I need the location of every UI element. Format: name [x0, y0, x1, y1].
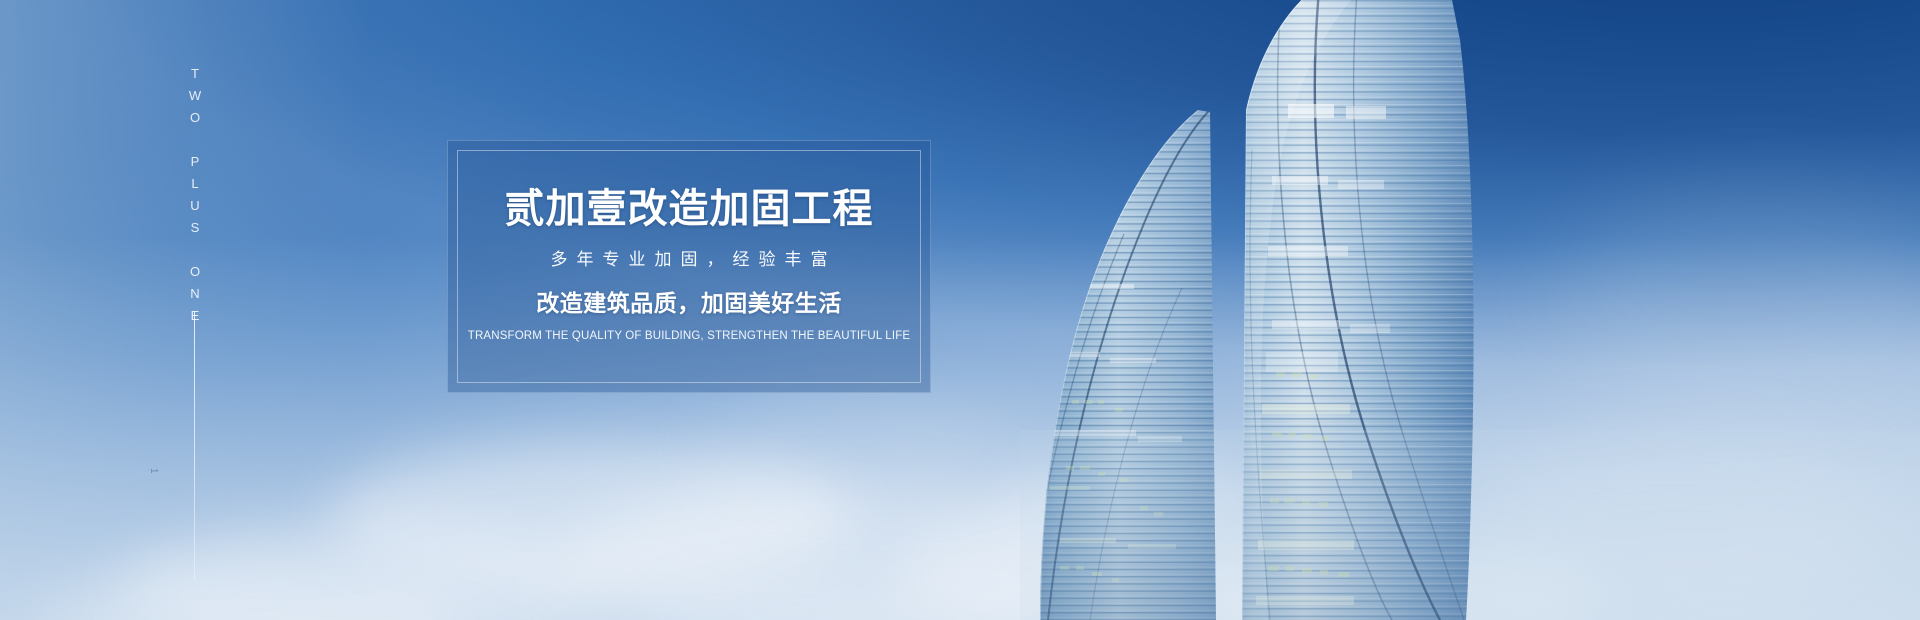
brand-vertical-rule	[194, 312, 195, 580]
brand-vertical-text: TWO PLUS ONE	[178, 66, 212, 330]
hero-banner: TWO PLUS ONE 1 贰加壹改造加固工程 多年专业加固，经验丰富 改造建…	[0, 0, 1920, 620]
hero-subtitle: 多年专业加固，经验丰富	[542, 250, 837, 270]
brand-word-one: ONE	[189, 264, 202, 330]
cloud-shape	[700, 404, 1030, 494]
brand-word-two: TWO	[189, 66, 202, 132]
hero-slogan: 改造建筑品质，加固美好生活	[536, 290, 842, 318]
brand-word-plus: PLUS	[189, 154, 202, 242]
hero-title: 贰加壹改造加固工程	[505, 187, 874, 232]
twin-towers-illustration	[1020, 0, 1920, 620]
hero-text-panel: 贰加壹改造加固工程 多年专业加固，经验丰富 改造建筑品质，加固美好生活 TRAN…	[447, 140, 931, 393]
brand-small-mark: 1	[148, 468, 159, 475]
hero-panel-content: 贰加壹改造加固工程 多年专业加固，经验丰富 改造建筑品质，加固美好生活 TRAN…	[448, 141, 930, 392]
hero-english-tagline: TRANSFORM THE QUALITY OF BUILDING, STREN…	[468, 330, 910, 344]
skyscrapers-photo	[1020, 0, 1920, 620]
